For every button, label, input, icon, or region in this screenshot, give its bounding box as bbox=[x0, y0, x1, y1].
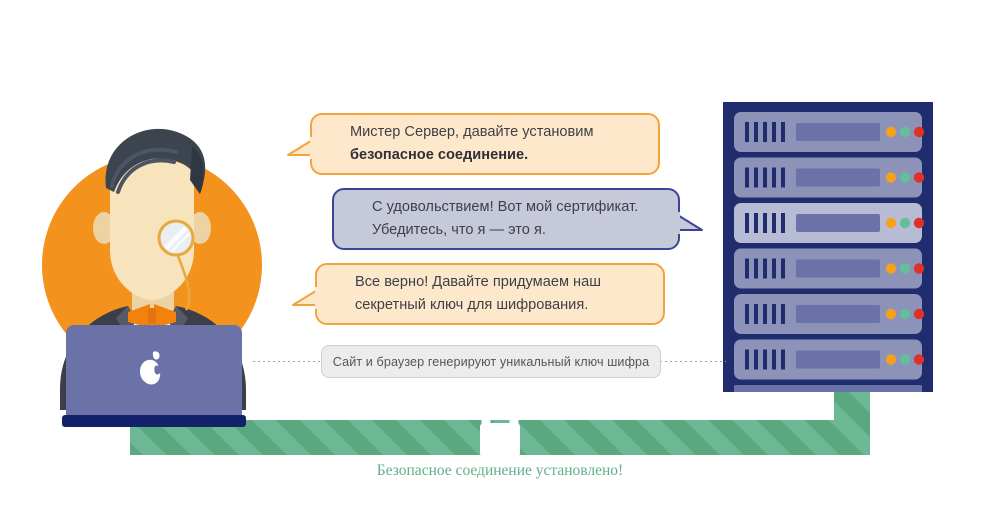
vent-bar bbox=[745, 259, 749, 279]
vent-bar bbox=[763, 213, 767, 233]
vent-bar bbox=[763, 168, 767, 188]
vent-bar bbox=[745, 122, 749, 142]
connector-line-right bbox=[660, 361, 726, 362]
laptop-base bbox=[62, 415, 246, 427]
led-green bbox=[900, 263, 910, 273]
key-generation-label: Сайт и браузер генерируют уникальный клю… bbox=[333, 355, 649, 369]
vent-bar bbox=[754, 259, 758, 279]
laptop bbox=[62, 325, 246, 427]
vent-bar bbox=[772, 350, 776, 370]
vent-bar bbox=[763, 304, 767, 324]
vent-bar bbox=[772, 122, 776, 142]
bubble-1-line-2: безопасное соединение. bbox=[350, 147, 528, 163]
vent-bar bbox=[772, 213, 776, 233]
bubble-3-line-1: Все верно! Давайте придумаем наш bbox=[355, 271, 601, 294]
server-slot bbox=[796, 351, 880, 369]
vent-bar bbox=[745, 304, 749, 324]
browser-character bbox=[0, 60, 320, 460]
vent-bar bbox=[772, 304, 776, 324]
footer-caption-text: Безопасное соединение установлено! bbox=[377, 462, 623, 479]
vent-bar bbox=[781, 350, 785, 370]
led-green bbox=[900, 354, 910, 364]
led-red bbox=[914, 354, 924, 364]
vent-bar bbox=[745, 213, 749, 233]
vent-bar bbox=[754, 168, 758, 188]
server-rack bbox=[723, 102, 933, 392]
vent-bar bbox=[754, 304, 758, 324]
vent-bar bbox=[781, 259, 785, 279]
led-orange bbox=[886, 127, 896, 137]
vent-bar bbox=[781, 122, 785, 142]
vent-bar bbox=[763, 259, 767, 279]
vent-bar bbox=[781, 213, 785, 233]
vent-bar bbox=[781, 304, 785, 324]
server-slot bbox=[796, 123, 880, 141]
led-red bbox=[914, 263, 924, 273]
server-slot bbox=[796, 169, 880, 187]
vent-bar bbox=[763, 122, 767, 142]
led-green bbox=[900, 309, 910, 319]
bubble-tail-right bbox=[674, 212, 704, 242]
monocle-icon bbox=[159, 221, 193, 255]
vent-bar bbox=[781, 168, 785, 188]
server-slot bbox=[796, 305, 880, 323]
bubble-1-text: Мистер Сервер, давайте установим безопас… bbox=[312, 121, 611, 166]
led-green bbox=[900, 127, 910, 137]
speech-bubble-server: С удовольствием! Вот мой сертификат. Убе… bbox=[332, 188, 680, 250]
vent-bar bbox=[772, 259, 776, 279]
vent-bar bbox=[745, 350, 749, 370]
server-slot bbox=[796, 260, 880, 278]
speech-bubble-browser-2: Все верно! Давайте придумаем наш секретн… bbox=[315, 263, 665, 325]
bubble-2-line-2: Убедитесь, что я — это я. bbox=[372, 219, 638, 242]
speech-bubble-browser-1: Мистер Сервер, давайте установим безопас… bbox=[310, 113, 660, 175]
padlock-closed-icon bbox=[466, 393, 534, 461]
led-red bbox=[914, 172, 924, 182]
vent-bar bbox=[754, 350, 758, 370]
led-orange bbox=[886, 263, 896, 273]
infographic-canvas: Мистер Сервер, давайте установим безопас… bbox=[0, 0, 1000, 523]
led-orange bbox=[886, 354, 896, 364]
led-green bbox=[900, 172, 910, 182]
led-red bbox=[914, 218, 924, 228]
bubble-tail-left bbox=[291, 287, 321, 317]
vent-bar bbox=[754, 122, 758, 142]
vent-bar bbox=[772, 168, 776, 188]
led-green bbox=[900, 218, 910, 228]
server-slot bbox=[796, 214, 880, 232]
vent-bar bbox=[763, 350, 767, 370]
footer-caption: Безопасное соединение установлено! bbox=[0, 462, 1000, 480]
bubble-3-text: Все верно! Давайте придумаем наш секретн… bbox=[317, 271, 619, 316]
connector-line-left bbox=[253, 361, 321, 362]
led-red bbox=[914, 309, 924, 319]
bubble-3-line-2: секретный ключ для шифрования. bbox=[355, 294, 601, 317]
rack-blank-bar bbox=[734, 385, 922, 392]
bubble-2-text: С удовольствием! Вот мой сертификат. Убе… bbox=[334, 196, 656, 241]
bubble-tail-left bbox=[286, 137, 316, 167]
key-generation-note: Сайт и браузер генерируют уникальный клю… bbox=[321, 345, 661, 378]
led-red bbox=[914, 127, 924, 137]
vent-bar bbox=[754, 213, 758, 233]
led-orange bbox=[886, 172, 896, 182]
bubble-2-line-1: С удовольствием! Вот мой сертификат. bbox=[372, 196, 638, 219]
led-orange bbox=[886, 218, 896, 228]
led-orange bbox=[886, 309, 896, 319]
vent-bar bbox=[745, 168, 749, 188]
bubble-1-line-1: Мистер Сервер, давайте установим bbox=[350, 121, 593, 144]
